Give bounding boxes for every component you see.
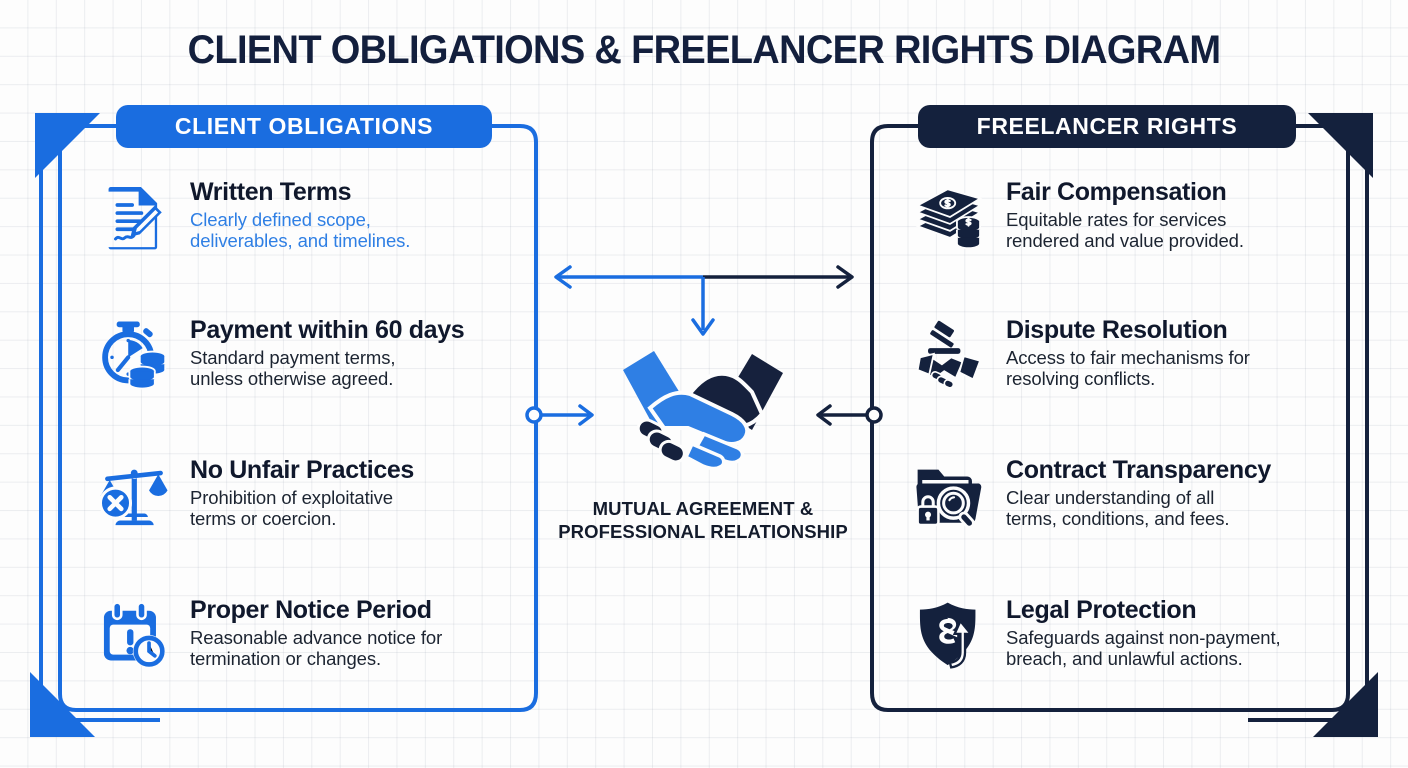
item-title: Payment within 60 days [190, 317, 464, 344]
list-item-legal-protection[interactable]: Legal Protection Safeguards against non-… [908, 593, 1281, 677]
item-title: Dispute Resolution [1006, 317, 1250, 344]
shield-section-arrow-icon [908, 593, 992, 677]
item-description: Equitable rates for services rendered an… [1006, 209, 1244, 253]
list-item-no-unfair-practices[interactable]: No Unfair Practices Prohibition of explo… [92, 453, 414, 537]
list-item-payment-within-60-days[interactable]: Payment within 60 days Standard payment … [92, 313, 464, 397]
item-description: Prohibition of exploitative terms or coe… [190, 487, 414, 531]
handshake-icon [592, 330, 814, 480]
cash-stack-coins-icon [908, 175, 992, 259]
center-caption: MUTUAL AGREEMENT & PROFESSIONAL RELATION… [520, 497, 886, 543]
item-description: Access to fair mechanisms for resolving … [1006, 347, 1250, 391]
item-title: No Unfair Practices [190, 457, 414, 484]
page-title: CLIENT OBLIGATIONS & FREELANCER RIGHTS D… [35, 30, 1373, 70]
item-description: Reasonable advance notice for terminatio… [190, 627, 442, 671]
item-title: Proper Notice Period [190, 597, 442, 624]
list-item-dispute-resolution[interactable]: Dispute Resolution Access to fair mechan… [908, 313, 1250, 397]
item-title: Contract Transparency [1006, 457, 1271, 484]
item-description: Clearly defined scope, deliverables, and… [190, 209, 410, 253]
item-title: Written Terms [190, 179, 410, 206]
item-description: Standard payment terms, unless otherwise… [190, 347, 464, 391]
top-right-connector-arrow [703, 267, 852, 287]
right-dot-connector [818, 406, 881, 424]
bottom-right-bracket-arrow [1313, 672, 1378, 737]
stopwatch-coins-icon [92, 313, 176, 397]
item-title: Legal Protection [1006, 597, 1281, 624]
center-down-arrow [693, 277, 713, 334]
list-item-proper-notice-period[interactable]: Proper Notice Period Reasonable advance … [92, 593, 442, 677]
list-item-written-terms[interactable]: Written Terms Clearly defined scope, del… [92, 175, 410, 259]
gavel-handshake-icon [908, 313, 992, 397]
scales-x-icon [92, 453, 176, 537]
item-description: Clear understanding of all terms, condit… [1006, 487, 1271, 531]
item-title: Fair Compensation [1006, 179, 1244, 206]
document-pen-icon [92, 175, 176, 259]
badge-freelancer-rights[interactable]: FREELANCER RIGHTS [918, 105, 1296, 148]
diagram-stage: CLIENT OBLIGATIONS FREELANCER RIGHTS CLI… [0, 0, 1408, 768]
top-right-bracket-arrow [1308, 113, 1373, 178]
folder-lock-magnifier-icon [908, 453, 992, 537]
top-left-connector-arrow [556, 267, 703, 287]
item-description: Safeguards against non-payment, breach, … [1006, 627, 1281, 671]
list-item-fair-compensation[interactable]: Fair Compensation Equitable rates for se… [908, 175, 1244, 259]
bottom-left-bracket-arrow [30, 672, 95, 737]
badge-client-obligations[interactable]: CLIENT OBLIGATIONS [116, 105, 492, 148]
calendar-alert-clock-icon [92, 593, 176, 677]
list-item-contract-transparency[interactable]: Contract Transparency Clear understandin… [908, 453, 1271, 537]
top-left-bracket-arrow [35, 113, 100, 178]
left-dot-connector [527, 406, 592, 424]
